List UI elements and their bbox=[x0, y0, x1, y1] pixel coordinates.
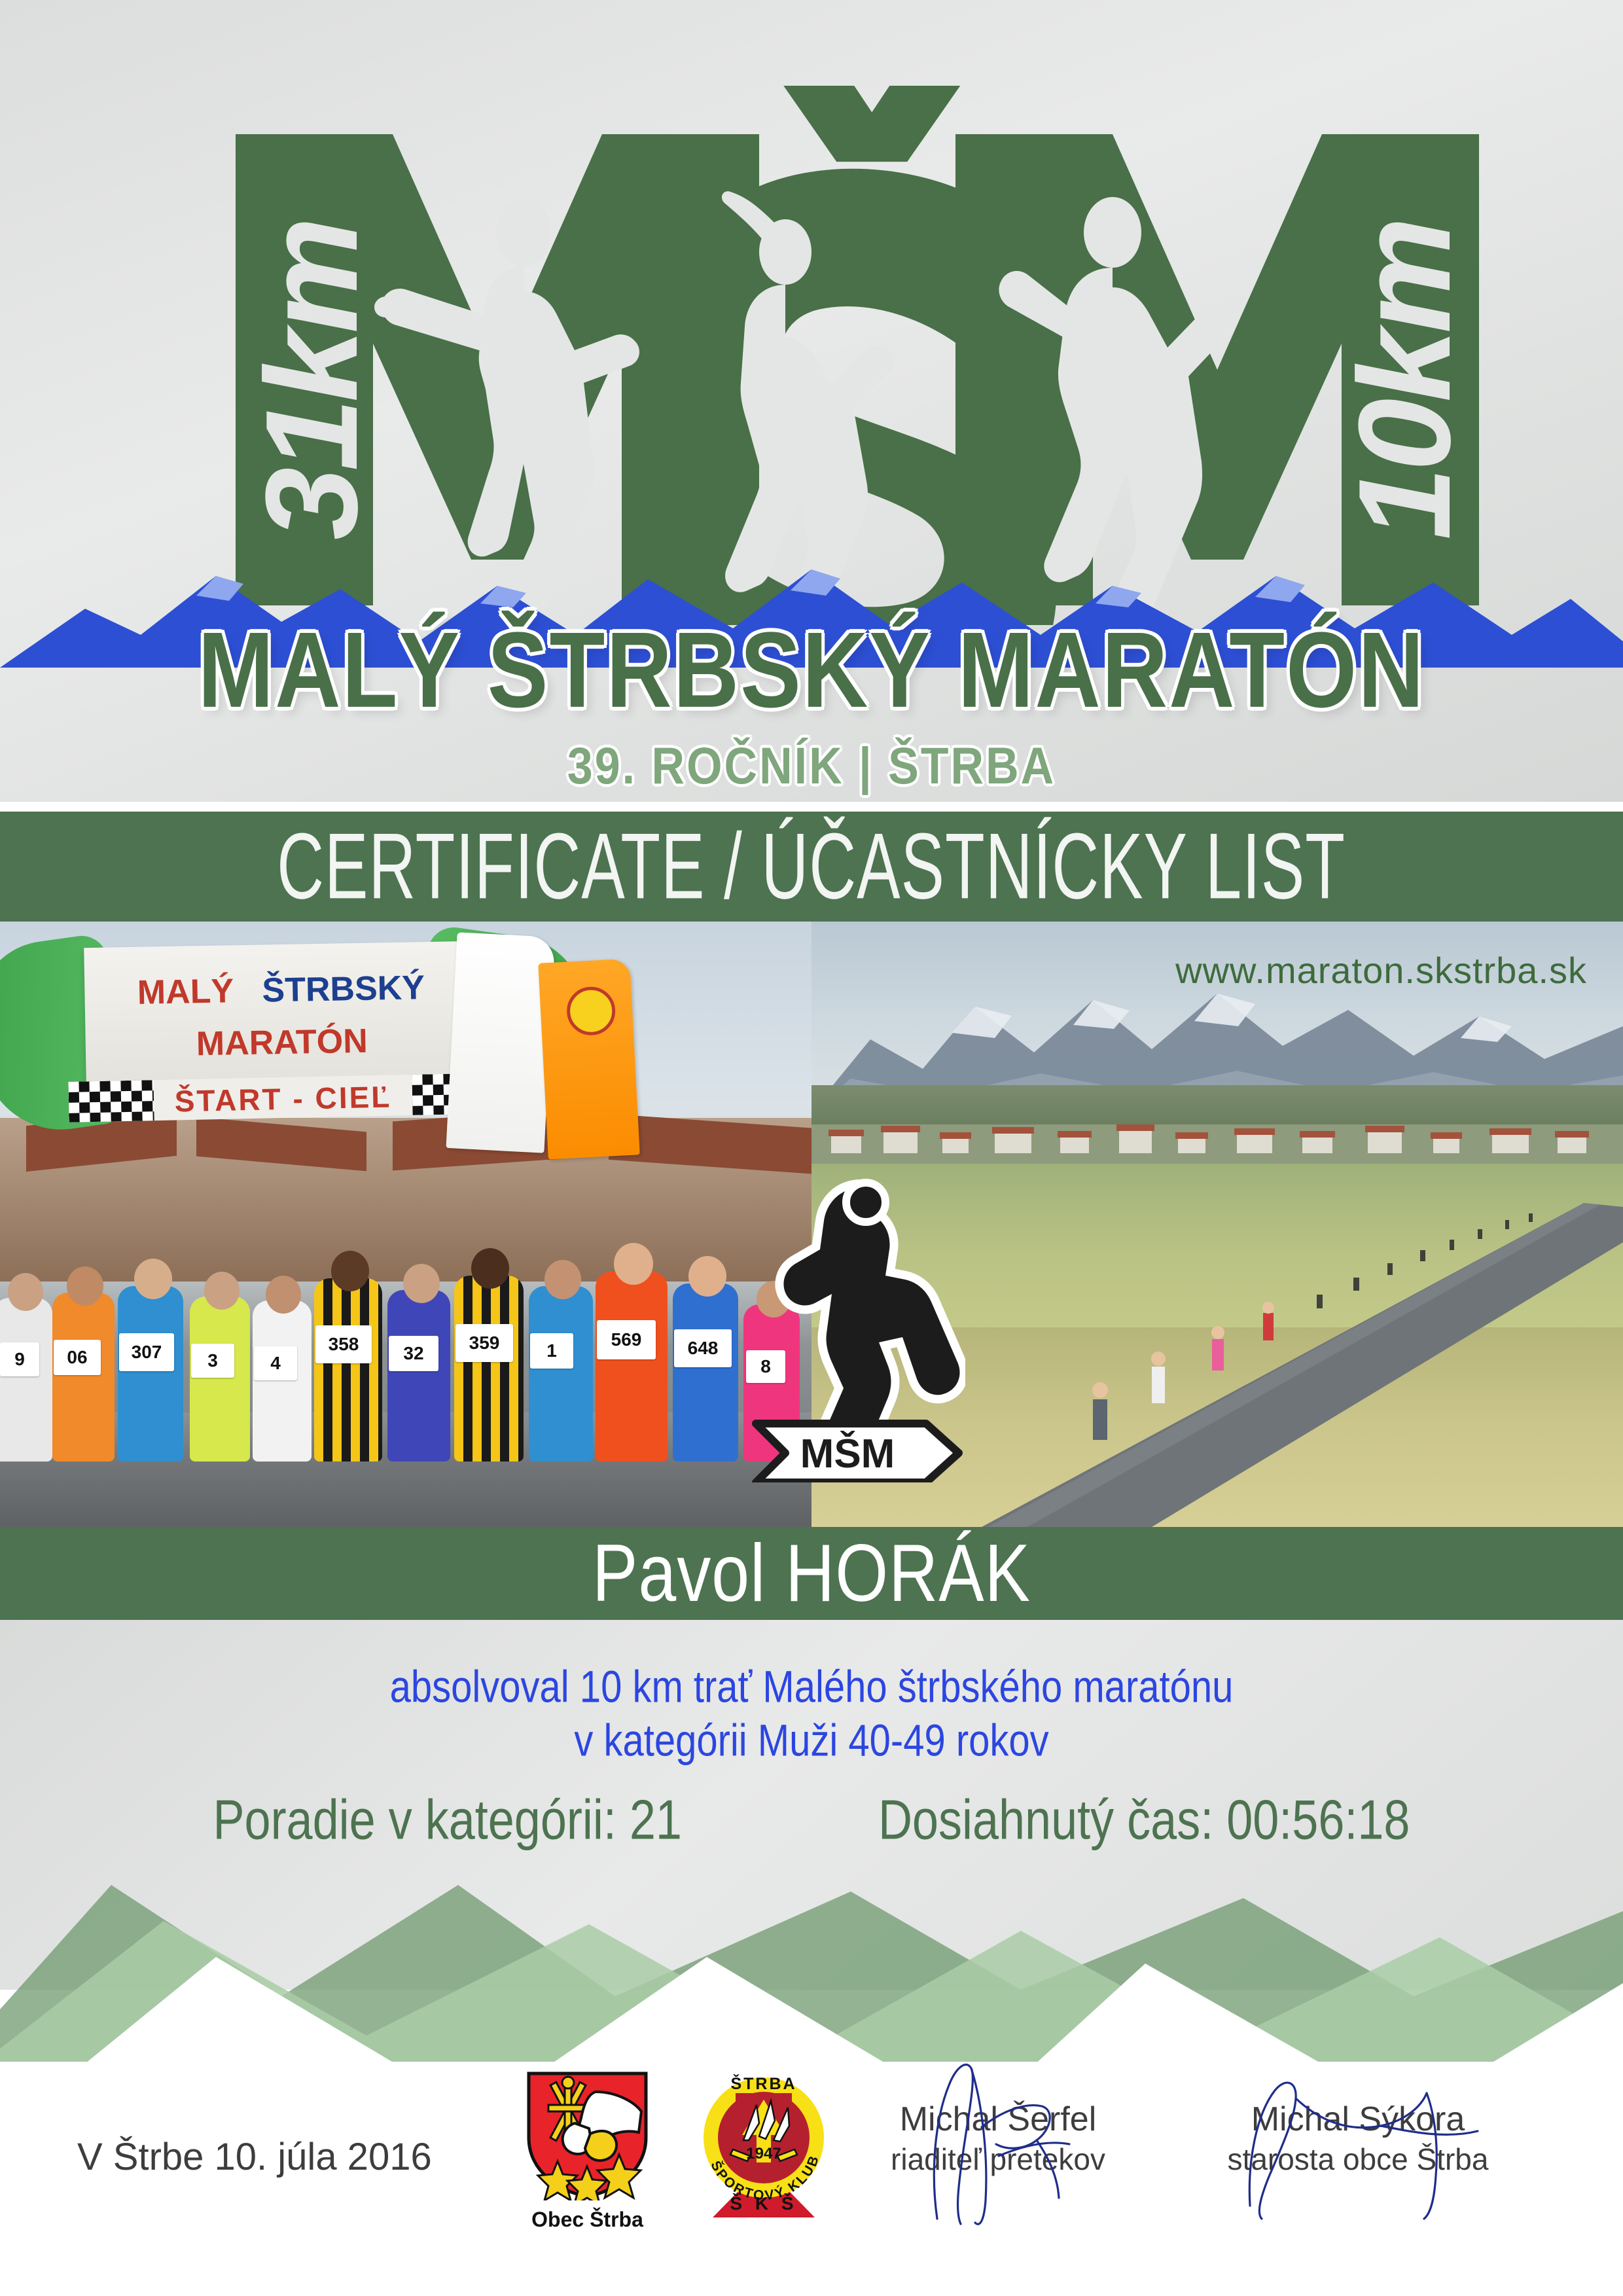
signature-name: Michal Sýkora bbox=[1185, 2100, 1531, 2139]
website-url: www.maraton.skstrba.sk bbox=[1175, 949, 1587, 992]
runner-head bbox=[544, 1260, 581, 1299]
runner-head bbox=[688, 1256, 726, 1297]
runner-bib: 9 bbox=[0, 1342, 39, 1376]
runner-bib: 307 bbox=[119, 1333, 174, 1371]
finish-time: Dosiahnutý čas: 00:56:18 bbox=[878, 1789, 1410, 1852]
sponsor-flag-orange bbox=[538, 959, 640, 1160]
runner bbox=[190, 1297, 250, 1462]
runner-head bbox=[331, 1251, 369, 1291]
msm-runner-badge: MŠM bbox=[749, 1175, 965, 1482]
logo-right-distance-text: 10km bbox=[1332, 221, 1478, 540]
runner-head bbox=[204, 1272, 240, 1310]
arch-banner-maraton: MARATÓN bbox=[196, 1022, 368, 1064]
sks-bottom-text: Š K Š bbox=[730, 2193, 797, 2214]
signature-role: starosta obce Štrba bbox=[1185, 2142, 1531, 2177]
runner-head bbox=[471, 1248, 509, 1289]
arch-banner-strbsky: ŠTRBSKÝ bbox=[262, 969, 425, 1009]
runner-bib: 32 bbox=[389, 1336, 438, 1371]
sks-club-emblem: ŠTRBA 1947 ŠPORTOVÝ KLUB Š K Š bbox=[694, 2067, 834, 2217]
signature-mayor: Michal Sýkora starosta obce Štrba bbox=[1185, 2100, 1531, 2177]
runner bbox=[673, 1283, 738, 1462]
runner-bib: 4 bbox=[254, 1346, 297, 1380]
runner-head bbox=[266, 1276, 301, 1314]
runner-bib: 648 bbox=[674, 1329, 732, 1367]
runner-crowd: 9 06 307 3 4 358 32 bbox=[0, 1183, 811, 1527]
runner-head bbox=[403, 1264, 440, 1303]
sponsor-flag-badge bbox=[565, 986, 616, 1037]
sks-top-text: ŠTRBA bbox=[730, 2073, 796, 2093]
obec-strba-coat-of-arms bbox=[517, 2070, 658, 2200]
signature-role: riaditeľ pretekov bbox=[844, 2142, 1152, 2177]
runner-bib: 359 bbox=[455, 1324, 513, 1362]
arch-banner: MALÝ ŠTRBSKÝ MARATÓN bbox=[84, 941, 479, 1085]
runner bbox=[0, 1298, 52, 1462]
runner-head bbox=[67, 1266, 103, 1306]
runner bbox=[387, 1290, 450, 1462]
msm-badge-text: MŠM bbox=[800, 1431, 895, 1477]
participant-name-band: Pavol HORÁK bbox=[0, 1527, 1623, 1620]
participant-description: absolvoval 10 km trať Malého štrbského m… bbox=[0, 1660, 1623, 1768]
runner-head bbox=[8, 1273, 43, 1311]
signature-race-director: Michal Šerfel riaditeľ pretekov bbox=[844, 2100, 1152, 2177]
runner bbox=[454, 1276, 524, 1462]
runner bbox=[596, 1272, 668, 1462]
msm-logo: 31km bbox=[0, 36, 1623, 612]
runner bbox=[253, 1300, 312, 1462]
runner bbox=[529, 1286, 593, 1462]
runner-bib: 3 bbox=[191, 1344, 234, 1378]
runner-bib: 569 bbox=[597, 1320, 656, 1359]
sports-club-logo: ŠTRBA 1947 ŠPORTOVÝ KLUB Š K Š bbox=[694, 2067, 834, 2217]
certificate-title-band: CERTIFICATE / ÚČASTNÍCKY LIST bbox=[0, 812, 1623, 922]
event-title: MALÝ ŠTRBSKÝ MARATÓN bbox=[0, 609, 1623, 732]
runner-head bbox=[614, 1243, 653, 1285]
runner-bib: 06 bbox=[54, 1340, 101, 1375]
category-rank: Poradie v kategórii: 21 bbox=[213, 1789, 682, 1852]
photo-start-line: MALÝ ŠTRBSKÝ MARATÓN ŠTART - CIEĽ bbox=[0, 922, 811, 1527]
event-edition: 39. ROČNÍK | ŠTRBA bbox=[0, 736, 1623, 795]
certificate-title: CERTIFICATE / ÚČASTNÍCKY LIST bbox=[277, 813, 1346, 920]
runner bbox=[314, 1278, 382, 1462]
runner bbox=[118, 1286, 183, 1462]
runner-bib: 358 bbox=[315, 1325, 372, 1363]
certificate-footer: V Štrbe 10. júla 2016 bbox=[0, 2062, 1623, 2296]
sks-year: 1947 bbox=[746, 2145, 781, 2162]
municipality-logo: Obec Štrba bbox=[517, 2070, 658, 2232]
place-and-date: V Štrbe 10. júla 2016 bbox=[77, 2135, 432, 2179]
runner bbox=[52, 1293, 115, 1462]
municipality-label: Obec Štrba bbox=[517, 2208, 658, 2232]
arch-banner-maly: MALÝ bbox=[137, 972, 234, 1012]
msm-logo-svg: 31km bbox=[0, 36, 1623, 625]
logo-left-distance-text: 31km bbox=[239, 221, 385, 540]
runner-head bbox=[134, 1259, 172, 1299]
participant-name: Pavol HORÁK bbox=[592, 1527, 1031, 1621]
description-line-2: v kategórii Muži 40-49 rokov bbox=[0, 1710, 1623, 1773]
logo-header-area: 31km bbox=[0, 0, 1623, 802]
event-title-block: MALÝ ŠTRBSKÝ MARATÓN 39. ROČNÍK | ŠTRBA bbox=[0, 609, 1623, 792]
certificate-page: 31km bbox=[0, 0, 1623, 2296]
runner-bib: 1 bbox=[530, 1333, 573, 1369]
signature-name: Michal Šerfel bbox=[844, 2100, 1152, 2139]
result-row: Poradie v kategórii: 21 Dosiahnutý čas: … bbox=[0, 1793, 1623, 1847]
